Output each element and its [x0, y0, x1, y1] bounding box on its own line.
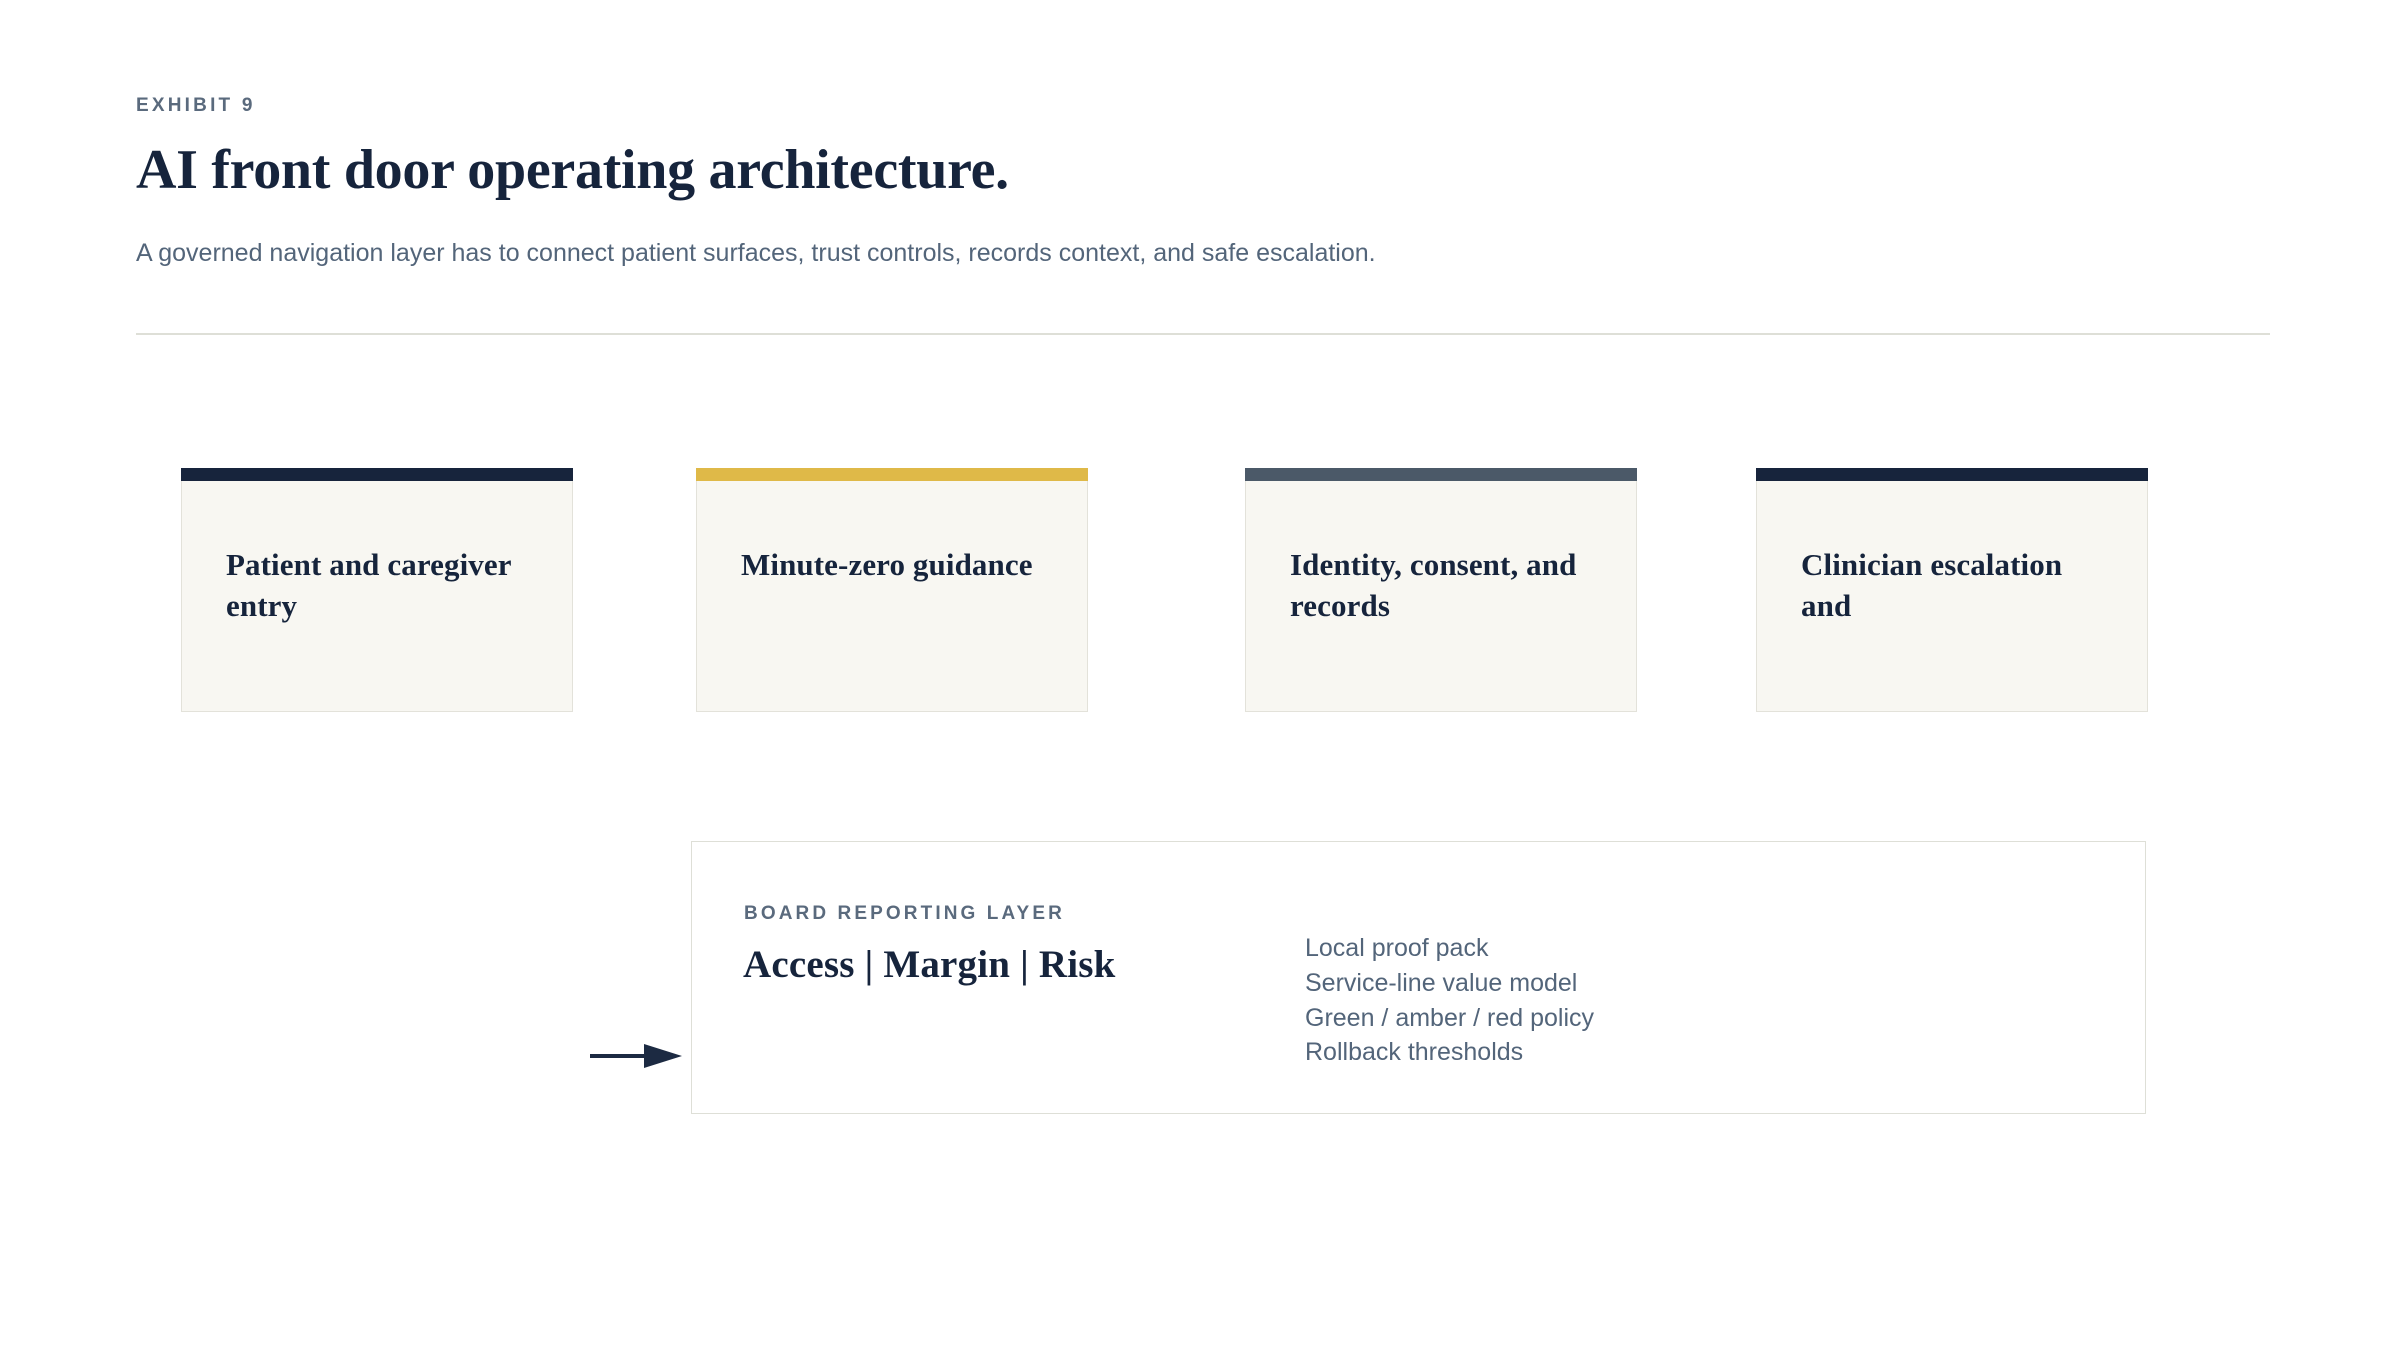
flow-diagram: Patient and caregiver entry Minute-zero … — [0, 468, 2400, 718]
flow-card-label: Patient and caregiver entry — [226, 545, 526, 627]
list-item: Rollback thresholds — [1305, 1035, 1594, 1070]
flow-card-label: Identity, consent, and records — [1290, 545, 1590, 627]
list-item: Green / amber / red policy — [1305, 1001, 1594, 1036]
card-accent-bar — [696, 468, 1088, 481]
flow-card-label: Minute-zero guidance — [741, 545, 1041, 586]
flow-card-clinician-escalation[interactable]: Clinician escalation and — [1756, 468, 2148, 712]
card-accent-bar — [1756, 468, 2148, 481]
panel-eyebrow: BOARD REPORTING LAYER — [744, 904, 1065, 923]
page-subtitle: A governed navigation layer has to conne… — [136, 237, 2270, 271]
flow-card-minute-zero-guidance[interactable]: Minute-zero guidance — [696, 468, 1088, 712]
flow-card-label: Clinician escalation and — [1801, 545, 2101, 627]
panel-item-list: Local proof pack Service-line value mode… — [1305, 931, 1594, 1070]
card-accent-bar — [1245, 468, 1637, 481]
board-reporting-panel: BOARD REPORTING LAYER Access | Margin | … — [691, 841, 2146, 1114]
flow-card-identity-consent-records[interactable]: Identity, consent, and records — [1245, 468, 1637, 712]
flow-card-patient-entry[interactable]: Patient and caregiver entry — [181, 468, 573, 712]
header-divider — [136, 333, 2270, 335]
list-item: Service-line value model — [1305, 966, 1594, 1001]
page-title: AI front door operating architecture. — [136, 141, 2270, 200]
panel-title: Access | Margin | Risk — [743, 939, 1116, 992]
page-header: EXHIBIT 9 AI front door operating archit… — [136, 96, 2270, 296]
list-item: Local proof pack — [1305, 931, 1594, 966]
arrow-right-icon — [590, 1041, 682, 1071]
exhibit-eyebrow: EXHIBIT 9 — [136, 96, 2270, 115]
card-accent-bar — [181, 468, 573, 481]
